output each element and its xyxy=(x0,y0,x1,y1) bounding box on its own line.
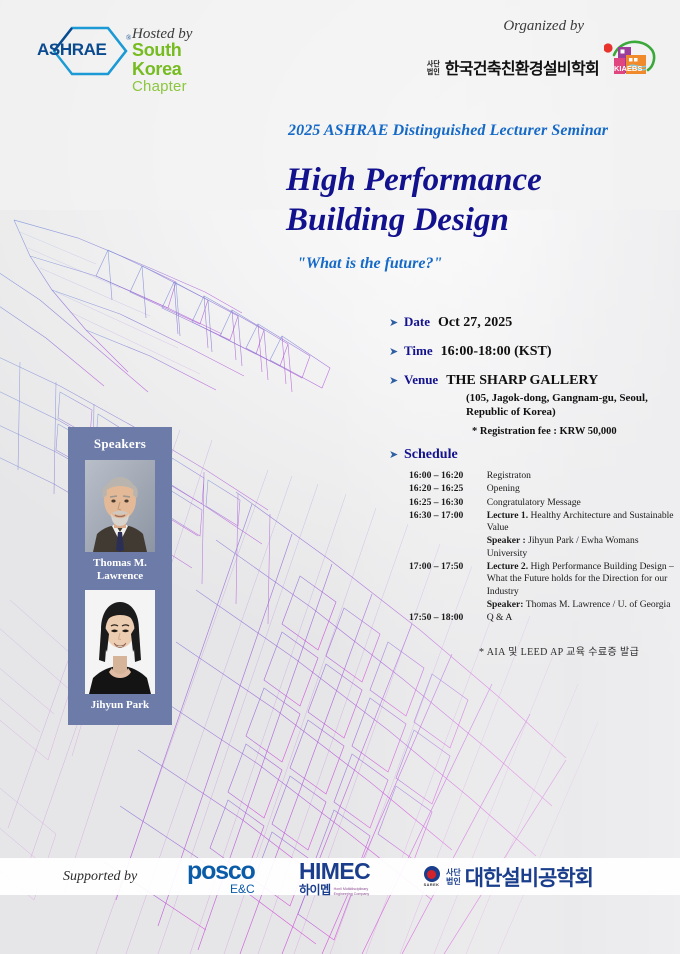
speaker-2-name-line-1: Jihyun Park xyxy=(68,699,172,712)
schedule-description-emphasis: Speaker: xyxy=(487,599,524,610)
arrow-bullet-icon: ➤ xyxy=(389,315,404,330)
avatar-jihyun-park xyxy=(85,590,155,694)
himec-tagline-line-1: Honil Multidisciplinary xyxy=(334,887,370,891)
portrait-thomas-lawrence-icon xyxy=(85,460,155,552)
venue-value: THE SHARP GALLERY xyxy=(446,373,598,389)
time-value: 16:00-18:00 (KST) xyxy=(441,344,552,360)
date-value: Oct 27, 2025 xyxy=(438,315,512,331)
schedule-description: Lecture 1. Healthy Architecture and Sust… xyxy=(487,510,674,536)
organized-by-block: Organized by 사단 법인 한국건축친환경설비학회 KIAEBS xyxy=(406,18,656,79)
kiaebs-logo: 사단 법인 한국건축친환경설비학회 KIAEBS xyxy=(406,39,656,79)
schedule-description: Opening xyxy=(487,483,674,496)
schedule-time xyxy=(409,599,487,612)
kiaebs-prefix-line-1: 사단 xyxy=(427,61,440,69)
avatar-thomas-lawrence xyxy=(85,460,155,552)
chapter-line-1: South Korea xyxy=(132,41,204,79)
schedule-description-emphasis: Speaker : xyxy=(487,535,526,546)
schedule-row: Speaker: Thomas M. Lawrence / U. of Geor… xyxy=(409,599,674,612)
schedule-heading: ➤ Schedule xyxy=(389,447,674,463)
south-korea-chapter-wordmark: South Korea Chapter xyxy=(132,41,204,95)
schedule-row: 17:00 – 17:50Lecture 2. High Performance… xyxy=(409,561,674,599)
supported-by-label: Supported by xyxy=(63,858,137,895)
arrow-bullet-icon: ➤ xyxy=(389,373,404,388)
speaker-1-name-line-1: Thomas M. xyxy=(68,557,172,570)
sarek-korean-name: 대한설비공학회 xyxy=(465,862,593,892)
main-title-line-2: Building Design xyxy=(286,200,542,240)
page-title: High Performance Building Design xyxy=(286,160,542,240)
kiaebs-prefix-line-2: 법인 xyxy=(427,69,440,77)
schedule-description: Speaker : Jihyun Park / Ewha Womans Univ… xyxy=(487,535,674,561)
schedule-row: Speaker : Jihyun Park / Ewha Womans Univ… xyxy=(409,535,674,561)
speakers-panel: Speakers xyxy=(68,427,172,725)
kiaebs-korean-name: 한국건축친환경설비학회 xyxy=(445,55,599,79)
date-label: Date xyxy=(404,314,430,330)
kiaebs-mark-text: KIAEBS xyxy=(614,64,642,73)
posco-logo: posco E&C xyxy=(187,858,255,895)
portrait-jihyun-park-icon xyxy=(85,590,155,694)
schedule-row: 16:25 – 16:30Congratulatory Message xyxy=(409,497,674,510)
time-label: Time xyxy=(404,343,433,359)
speakers-title: Speakers xyxy=(68,436,172,452)
schedule-description-emphasis: Lecture 1. xyxy=(487,510,528,521)
schedule-row: 16:00 – 16:20Registraton xyxy=(409,470,674,483)
schedule-description: Q & A xyxy=(487,612,674,625)
speaker-name-1: Thomas M. Lawrence xyxy=(68,557,172,583)
organized-by-label: Organized by xyxy=(406,18,584,35)
himec-tagline: Honil Multidisciplinary Engineering Comp… xyxy=(334,887,370,898)
himec-tagline-line-2: Engineering Company xyxy=(334,892,370,896)
hosted-by-block: ASHRAE ® Hosted by South Korea Chapter xyxy=(34,24,204,78)
ashrae-wordmark: ASHRAE xyxy=(37,40,106,60)
himec-wordmark: HIMEC xyxy=(299,860,370,883)
registration-fee: * Registration fee : KRW 50,000 xyxy=(472,426,674,437)
speaker-1-name-line-2: Lawrence xyxy=(68,570,172,583)
venue-label: Venue xyxy=(404,372,438,388)
schedule-description: Lecture 2. High Performance Building Des… xyxy=(487,561,674,599)
tagline: "What is the future?" xyxy=(297,255,442,273)
schedule-description: Registraton xyxy=(487,470,674,483)
himec-korean-name: 하이멥 xyxy=(299,881,331,898)
arrow-bullet-icon: ➤ xyxy=(389,344,404,359)
schedule-row: 17:50 – 18:00Q & A xyxy=(409,612,674,625)
ashrae-logo: ASHRAE ® Hosted by South Korea Chapter xyxy=(34,24,204,78)
chapter-line-2: Chapter xyxy=(132,79,204,95)
schedule-title: Schedule xyxy=(404,447,458,463)
detail-row-venue: ➤ Venue THE SHARP GALLERY (105, Jagok-do… xyxy=(389,372,674,437)
poster-root: ASHRAE ® Hosted by South Korea Chapter O… xyxy=(0,0,680,954)
sarek-logo: SAREK 사단 법인 대한설비공학회 xyxy=(421,858,593,895)
schedule-time: 17:50 – 18:00 xyxy=(409,612,487,625)
sarek-mark-text: SAREK xyxy=(421,883,442,887)
main-title-line-1: High Performance xyxy=(286,160,542,200)
posco-wordmark: posco xyxy=(187,859,255,884)
schedule-row: 16:30 – 17:00Lecture 1. Healthy Architec… xyxy=(409,510,674,536)
detail-row-date: ➤ Date Oct 27, 2025 xyxy=(389,314,674,331)
speaker-name-2: Jihyun Park xyxy=(68,699,172,712)
seminar-series-line: 2025 ASHRAE Distinguished Lecturer Semin… xyxy=(288,122,608,140)
schedule-description: Speaker: Thomas M. Lawrence / U. of Geor… xyxy=(487,599,674,612)
schedule-description: Congratulatory Message xyxy=(487,497,674,510)
kiaebs-corporate-prefix: 사단 법인 xyxy=(427,61,440,79)
schedule-time: 16:25 – 16:30 xyxy=(409,497,487,510)
venue-address: (105, Jagok-dong, Gangnam-gu, Seoul, Rep… xyxy=(466,391,666,419)
schedule-time: 17:00 – 17:50 xyxy=(409,561,487,599)
kiaebs-emblem-icon: KIAEBS xyxy=(604,39,656,79)
schedule-description-emphasis: Lecture 2. xyxy=(487,561,528,572)
schedule-row: 16:20 – 16:25Opening xyxy=(409,483,674,496)
schedule-time: 16:30 – 17:00 xyxy=(409,510,487,536)
sarek-prefix-line-1: 사단 xyxy=(446,868,461,877)
event-details: ➤ Date Oct 27, 2025 ➤ Time 16:00-18:00 (… xyxy=(389,314,674,658)
sarek-emblem-icon: SAREK xyxy=(421,866,442,887)
himec-logo: HIMEC 하이멥 Honil Multidisciplinary Engine… xyxy=(299,858,370,895)
schedule-table: 16:00 – 16:20Registraton16:20 – 16:25Ope… xyxy=(409,470,674,626)
registered-trademark-icon: ® xyxy=(126,34,131,42)
detail-row-time: ➤ Time 16:00-18:00 (KST) xyxy=(389,343,674,360)
schedule-time: 16:20 – 16:25 xyxy=(409,483,487,496)
sarek-prefix-line-2: 법인 xyxy=(446,877,461,886)
aia-leed-note: * AIA 및 LEED AP 교육 수료증 발급 xyxy=(479,643,674,658)
schedule-time: 16:00 – 16:20 xyxy=(409,470,487,483)
sarek-corporate-prefix: 사단 법인 xyxy=(446,868,461,886)
arrow-bullet-icon: ➤ xyxy=(389,447,404,462)
schedule-time xyxy=(409,535,487,561)
